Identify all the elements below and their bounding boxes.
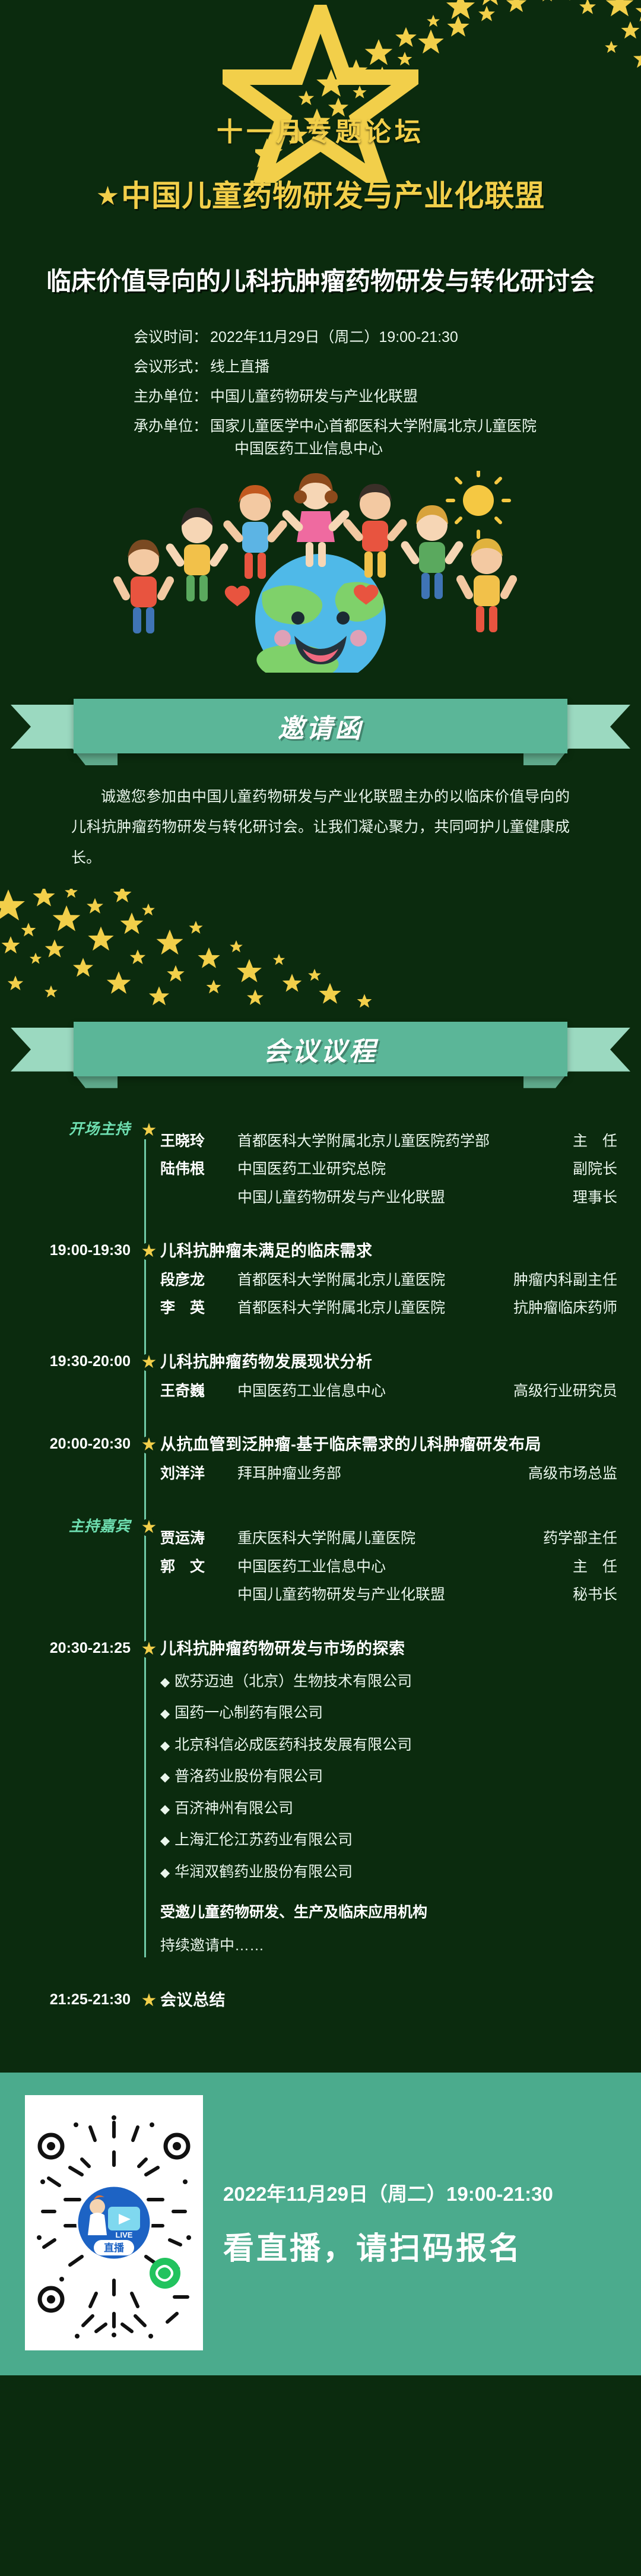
speaker-role: 肿瘤内科副主任	[513, 1272, 617, 1289]
sparkle-decoration-agenda	[0, 889, 641, 1007]
info-row-time: 会议时间： 2022年11月29日（周二）19:00-21:30	[134, 330, 641, 345]
speaker-role: 药学部主任	[543, 1531, 617, 1547]
ribbon-label-agenda: 会议议程	[264, 1030, 377, 1068]
star-icon: ★	[138, 1640, 160, 1658]
speaker-role: 高级市场总监	[528, 1466, 617, 1482]
speaker-entry: 段彦龙 首都医科大学附属北京儿童医院 肿瘤内科副主任	[160, 1272, 617, 1289]
speaker-entry: 李 英 首都医科大学附属北京儿童医院 抗肿瘤临床药师	[160, 1300, 617, 1317]
agenda-row-body: 会议总结	[160, 1992, 617, 2010]
session-title: 会议总结	[160, 1992, 617, 2010]
agenda-time: 20:30-21:25	[0, 1640, 138, 1657]
speaker-org: 中国儿童药物研发与产业化联盟	[237, 1190, 573, 1206]
speaker-entry: 刘洋洋 拜耳肿瘤业务部 高级市场总监	[160, 1466, 617, 1482]
company-list-item: ◆ 百济神州有限公司	[160, 1801, 617, 1817]
session-title: 儿科抗肿瘤药物研发与市场的探索	[160, 1640, 617, 1658]
live-label: LIVE	[116, 2230, 133, 2239]
speaker-entry: 王奇巍 中国医药工业信息中心 高级行业研究员	[160, 1383, 617, 1400]
diamond-icon: ◆	[160, 1802, 170, 1816]
speaker-name: 李 英	[160, 1300, 237, 1317]
star-icon: ★	[138, 1354, 160, 1371]
speaker-name: 郭 文	[160, 1559, 237, 1576]
registration-footer: LIVE 直播 2022年11月29日（周二）19:00-21:30 看直播，请…	[0, 2073, 641, 2375]
company-list-item: ◆ 欧芬迈迪（北京）生物技术有限公司	[160, 1674, 617, 1690]
invited-institutions-note: 持续邀请中……	[160, 1934, 617, 1955]
diamond-icon: ◆	[160, 1675, 170, 1689]
info-label-organizer: 主办单位：	[134, 389, 208, 404]
agenda-row-body: 儿科抗肿瘤药物发展现状分析 王奇巍 中国医药工业信息中心 高级行业研究员	[160, 1354, 617, 1399]
company-name: 北京科信必成医药科技发展有限公司	[174, 1737, 412, 1754]
star-icon: ★	[96, 181, 120, 211]
page-subtitle: 临床价值导向的儿科抗肿瘤药物研发与转化研讨会	[0, 261, 641, 297]
agenda-row-body: 王晓玲 首都医科大学附属北京儿童医院药学部 主 任 陆伟根 中国医药工业研究总院…	[160, 1121, 617, 1206]
info-label-time: 会议时间：	[134, 330, 208, 345]
agenda-row: 20:00-20:30 ★ 从抗血管到泛肿瘤-基于临床需求的儿科肿瘤研发布局 刘…	[0, 1436, 641, 1482]
info-value-cohost-line2: 中国医药工业信息中心	[234, 442, 641, 457]
speaker-entry: 郭 文 中国医药工业信息中心 主 任	[160, 1559, 617, 1576]
footer-text-block: 2022年11月29日（周二）19:00-21:30 看直播，请扫码报名	[223, 2178, 553, 2268]
poster-root: 十一月专题论坛 ★中国儿童药物研发与产业化联盟 临床价值导向的儿科抗肿瘤药物研发…	[0, 0, 641, 2576]
agenda-role-label: 主持嘉宾	[0, 1519, 138, 1535]
speaker-org: 中国医药工业研究总院	[237, 1161, 573, 1178]
agenda-row-body: 儿科抗肿瘤未满足的临床需求 段彦龙 首都医科大学附属北京儿童医院 肿瘤内科副主任…	[160, 1243, 617, 1317]
diamond-icon: ◆	[160, 1739, 170, 1753]
speaker-org: 重庆医科大学附属儿童医院	[237, 1531, 543, 1547]
agenda-row-body: 从抗血管到泛肿瘤-基于临床需求的儿科肿瘤研发布局 刘洋洋 拜耳肿瘤业务部 高级市…	[160, 1436, 617, 1482]
company-name: 华润双鹤药业股份有限公司	[174, 1864, 353, 1881]
company-list-item: ◆ 普洛药业股份有限公司	[160, 1769, 617, 1785]
session-title: 儿科抗肿瘤未满足的临床需求	[160, 1243, 617, 1260]
agenda-row-body: 贾运涛 重庆医科大学附属儿童医院 药学部主任 郭 文 中国医药工业信息中心 主 …	[160, 1519, 617, 1604]
ribbon-tail-left	[11, 705, 82, 749]
speaker-role: 主 任	[573, 1133, 617, 1150]
company-name: 百济神州有限公司	[174, 1801, 293, 1817]
invited-institutions-heading: 受邀儿童药物研发、生产及临床应用机构	[160, 1900, 617, 1922]
info-value-format: 线上直播	[210, 360, 269, 375]
speaker-entry: 王晓玲 首都医科大学附属北京儿童医院药学部 主 任	[160, 1133, 617, 1150]
agenda-row: 19:00-19:30 ★ 儿科抗肿瘤未满足的临床需求 段彦龙 首都医科大学附属…	[0, 1243, 641, 1317]
speaker-name: 王晓玲	[160, 1133, 237, 1150]
company-name: 国药一心制药有限公司	[174, 1705, 323, 1722]
company-name: 上海汇伦江苏药业有限公司	[174, 1832, 353, 1849]
star-icon: ★	[138, 1436, 160, 1454]
speaker-org: 中国医药工业信息中心	[237, 1383, 513, 1400]
speaker-role: 副院长	[573, 1161, 617, 1178]
agenda-row-panel: 20:30-21:25 ★ 儿科抗肿瘤药物研发与市场的探索 ◆ 欧芬迈迪（北京）…	[0, 1640, 641, 1955]
star-icon: ★	[138, 1519, 160, 1536]
agenda-row: 开场主持 ★ 王晓玲 首都医科大学附属北京儿童医院药学部 主 任 陆伟根 中国医…	[0, 1121, 641, 1206]
main-title-text: 中国儿童药物研发与产业化联盟	[121, 179, 545, 213]
speaker-org: 首都医科大学附属北京儿童医院	[237, 1300, 513, 1317]
speaker-entry: 中国儿童药物研发与产业化联盟 秘书长	[160, 1587, 617, 1604]
diamond-icon: ◆	[160, 1866, 170, 1880]
speaker-entry: 中国儿童药物研发与产业化联盟 理事长	[160, 1190, 617, 1206]
agenda-row: 19:30-20:00 ★ 儿科抗肿瘤药物发展现状分析 王奇巍 中国医药工业信息…	[0, 1354, 641, 1399]
info-label-format: 会议形式：	[134, 360, 208, 375]
speaker-org: 中国医药工业信息中心	[237, 1559, 573, 1576]
agenda-time: 19:30-20:00	[0, 1354, 138, 1370]
company-name: 欧芬迈迪（北京）生物技术有限公司	[174, 1674, 412, 1690]
footer-cta: 看直播，请扫码报名	[223, 2223, 553, 2268]
speaker-org: 中国儿童药物研发与产业化联盟	[237, 1587, 573, 1604]
live-badge-icon: LIVE 直播	[77, 2186, 151, 2260]
qr-code-icon[interactable]: LIVE 直播	[25, 2095, 203, 2350]
hero-section: 十一月专题论坛 ★中国儿童药物研发与产业化联盟 临床价值导向的儿科抗肿瘤药物研发…	[0, 0, 641, 309]
invitation-paragraph: 诚邀您参加由中国儿童药物研发与产业化联盟主办的以临床价值导向的儿科抗肿瘤药物研发…	[71, 782, 570, 873]
ribbon-label-invitation: 邀请函	[278, 707, 363, 745]
company-list-item: ◆ 国药一心制药有限公司	[160, 1705, 617, 1722]
star-icon: ★	[138, 1992, 160, 2010]
info-value-time: 2022年11月29日（周二）19:00-21:30	[210, 330, 458, 345]
diamond-icon: ◆	[160, 1707, 170, 1720]
qr-center-badge-label: 直播	[104, 2242, 125, 2254]
children-globe-illustration	[0, 471, 641, 685]
speaker-role: 主 任	[573, 1559, 617, 1576]
footer-date: 2022年11月29日（周二）19:00-21:30	[223, 2178, 553, 2207]
agenda-row-closing: 21:25-21:30 ★ 会议总结	[0, 1992, 641, 2010]
speaker-role: 抗肿瘤临床药师	[513, 1300, 617, 1317]
ribbon-tail-right-agenda	[559, 1028, 630, 1072]
speaker-org: 首都医科大学附属北京儿童医院	[237, 1272, 513, 1289]
diamond-icon: ◆	[160, 1834, 170, 1848]
info-label-cohost: 承办单位：	[134, 419, 208, 434]
ribbon-banner-invitation: 邀请函	[74, 699, 567, 753]
agenda-role-label: 开场主持	[0, 1121, 138, 1138]
speaker-org: 拜耳肿瘤业务部	[237, 1466, 528, 1482]
agenda-time: 20:00-20:30	[0, 1436, 138, 1453]
speaker-name: 陆伟根	[160, 1161, 237, 1178]
ribbon-tail-right	[559, 705, 630, 749]
forum-star-badge	[223, 5, 418, 183]
invitation-ribbon: 邀请函	[0, 692, 641, 762]
company-list-item: ◆ 上海汇伦江苏药业有限公司	[160, 1832, 617, 1849]
info-row-cohost: 承办单位： 国家儿童医学中心首都医科大学附属北京儿童医院	[134, 419, 641, 434]
speaker-role: 秘书长	[573, 1587, 617, 1604]
info-value-organizer: 中国儿童药物研发与产业化联盟	[210, 389, 418, 404]
session-title: 儿科抗肿瘤药物发展现状分析	[160, 1354, 617, 1371]
sun-icon	[448, 471, 509, 537]
speaker-name: 王奇巍	[160, 1383, 237, 1400]
speaker-entry: 贾运涛 重庆医科大学附属儿童医院 药学部主任	[160, 1531, 617, 1547]
speaker-entry: 陆伟根 中国医药工业研究总院 副院长	[160, 1161, 617, 1178]
agenda-row: 主持嘉宾 ★ 贾运涛 重庆医科大学附属儿童医院 药学部主任 郭 文 中国医药工业…	[0, 1519, 641, 1604]
session-title: 从抗血管到泛肿瘤-基于临床需求的儿科肿瘤研发布局	[160, 1436, 617, 1454]
info-value-cohost: 国家儿童医学中心首都医科大学附属北京儿童医院	[210, 419, 537, 434]
company-list-item: ◆ 北京科信必成医药科技发展有限公司	[160, 1737, 617, 1754]
diamond-icon: ◆	[160, 1770, 170, 1784]
speaker-role: 高级行业研究员	[513, 1383, 617, 1400]
ribbon-tail-left-agenda	[11, 1028, 82, 1072]
info-row-organizer: 主办单位： 中国儿童药物研发与产业化联盟	[134, 389, 641, 404]
wechat-mini-program-icon	[150, 2258, 180, 2289]
agenda-time: 19:00-19:30	[0, 1243, 138, 1259]
info-row-format: 会议形式： 线上直播	[134, 360, 641, 375]
agenda-list: 开场主持 ★ 王晓玲 首都医科大学附属北京儿童医院药学部 主 任 陆伟根 中国医…	[0, 1085, 641, 2057]
company-list-item: ◆ 华润双鹤药业股份有限公司	[160, 1864, 617, 1881]
agenda-ribbon: 会议议程	[0, 1015, 641, 1085]
page-title: ★中国儿童药物研发与产业化联盟	[0, 172, 641, 215]
speaker-name: 段彦龙	[160, 1272, 237, 1289]
speaker-name: 刘洋洋	[160, 1466, 237, 1482]
star-icon: ★	[138, 1121, 160, 1139]
agenda-time: 21:25-21:30	[0, 1992, 138, 2008]
badge-label: 十一月专题论坛	[217, 110, 424, 148]
company-name: 普洛药业股份有限公司	[174, 1769, 323, 1785]
star-icon: ★	[138, 1243, 160, 1260]
ribbon-banner-agenda: 会议议程	[74, 1022, 567, 1076]
speaker-name: 贾运涛	[160, 1531, 237, 1547]
speaker-role: 理事长	[573, 1190, 617, 1206]
meeting-info: 会议时间： 2022年11月29日（周二）19:00-21:30 会议形式： 线…	[134, 330, 641, 457]
agenda-panel-body: 儿科抗肿瘤药物研发与市场的探索 ◆ 欧芬迈迪（北京）生物技术有限公司 ◆ 国药一…	[160, 1640, 617, 1955]
speaker-org: 首都医科大学附属北京儿童医院药学部	[237, 1133, 573, 1150]
